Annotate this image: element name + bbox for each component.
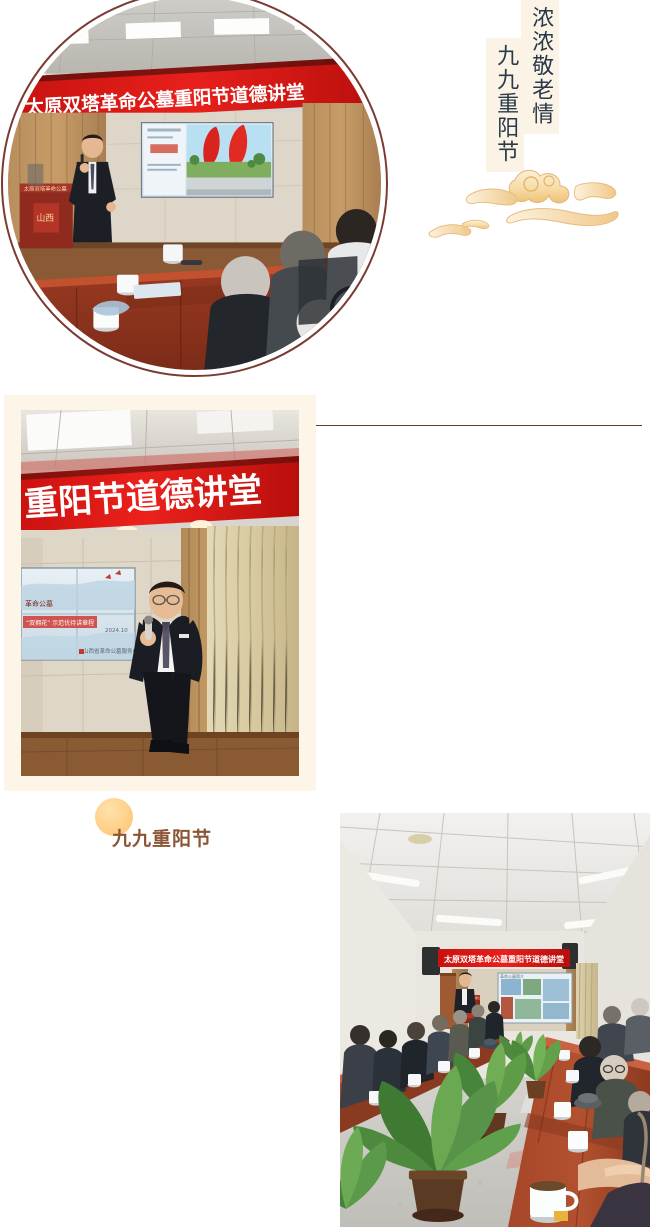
auspicious-cloud-icon xyxy=(418,158,638,253)
right-photo-illustration: 太原双塔革命公墓重阳节道德讲堂 革命公墓简介 太原双塔革命公墓 xyxy=(340,813,650,1227)
hero-circle-photo-frame: 太原双塔革命公墓重阳节道德讲堂 xyxy=(1,0,388,377)
right-photo: 太原双塔革命公墓重阳节道德讲堂 革命公墓简介 太原双塔革命公墓 xyxy=(340,813,650,1227)
svg-text:2024.10: 2024.10 xyxy=(105,628,128,634)
svg-text:革命公墓简介: 革命公墓简介 xyxy=(500,973,524,979)
svg-text:革命公墓: 革命公墓 xyxy=(25,599,53,608)
headline-left-column: 九九重阳节 xyxy=(486,38,524,172)
headline-right-column: 浓浓敬老情 xyxy=(521,0,559,134)
svg-text:“双拥花” 示范优待讲章程: “双拥花” 示范优待讲章程 xyxy=(26,619,94,627)
svg-text:太原双塔革命公墓: 太原双塔革命公墓 xyxy=(24,184,68,192)
svg-text:太原双塔革命公墓重阳节道德讲堂: 太原双塔革命公墓重阳节道德讲堂 xyxy=(443,954,564,964)
hero-photo-illustration: 太原双塔革命公墓重阳节道德讲堂 xyxy=(8,0,381,370)
hero-circle-photo: 太原双塔革命公墓重阳节道德讲堂 xyxy=(8,0,381,370)
svg-text:山西: 山西 xyxy=(36,213,54,224)
left-photo: 重阳节道德讲堂 xyxy=(21,410,299,776)
left-photo-illustration: 重阳节道德讲堂 xyxy=(21,410,299,776)
left-photo-caption: 九九重阳节 xyxy=(112,824,212,851)
cloud-illustration xyxy=(418,158,638,253)
